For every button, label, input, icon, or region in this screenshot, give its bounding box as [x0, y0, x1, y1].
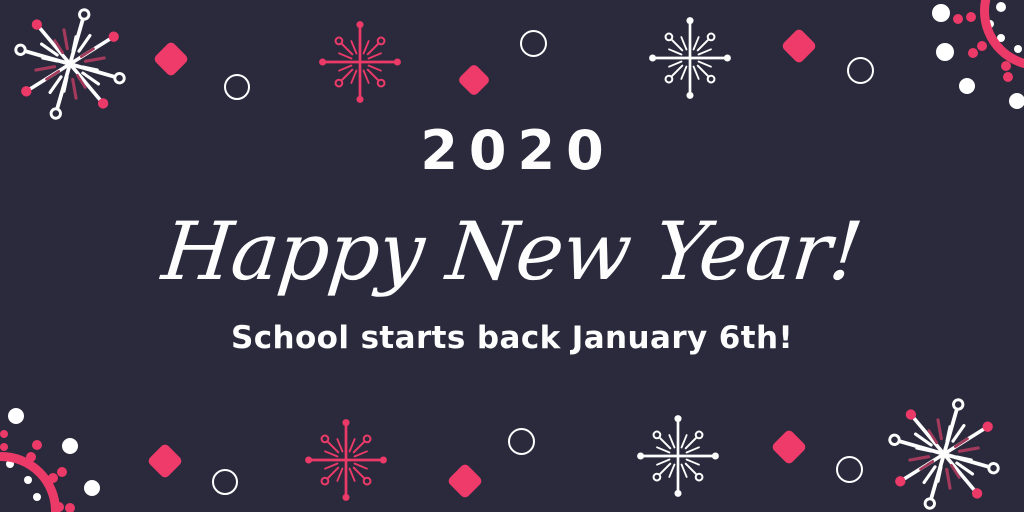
text-layer: 2020 Happy New Year! School starts back … [0, 0, 1024, 512]
new-year-banner: 2020 Happy New Year! School starts back … [0, 0, 1024, 512]
greeting-script: Happy New Year! [159, 210, 866, 294]
year-heading: 2020 [409, 124, 614, 178]
subtitle-text: School starts back January 6th! [231, 320, 793, 356]
